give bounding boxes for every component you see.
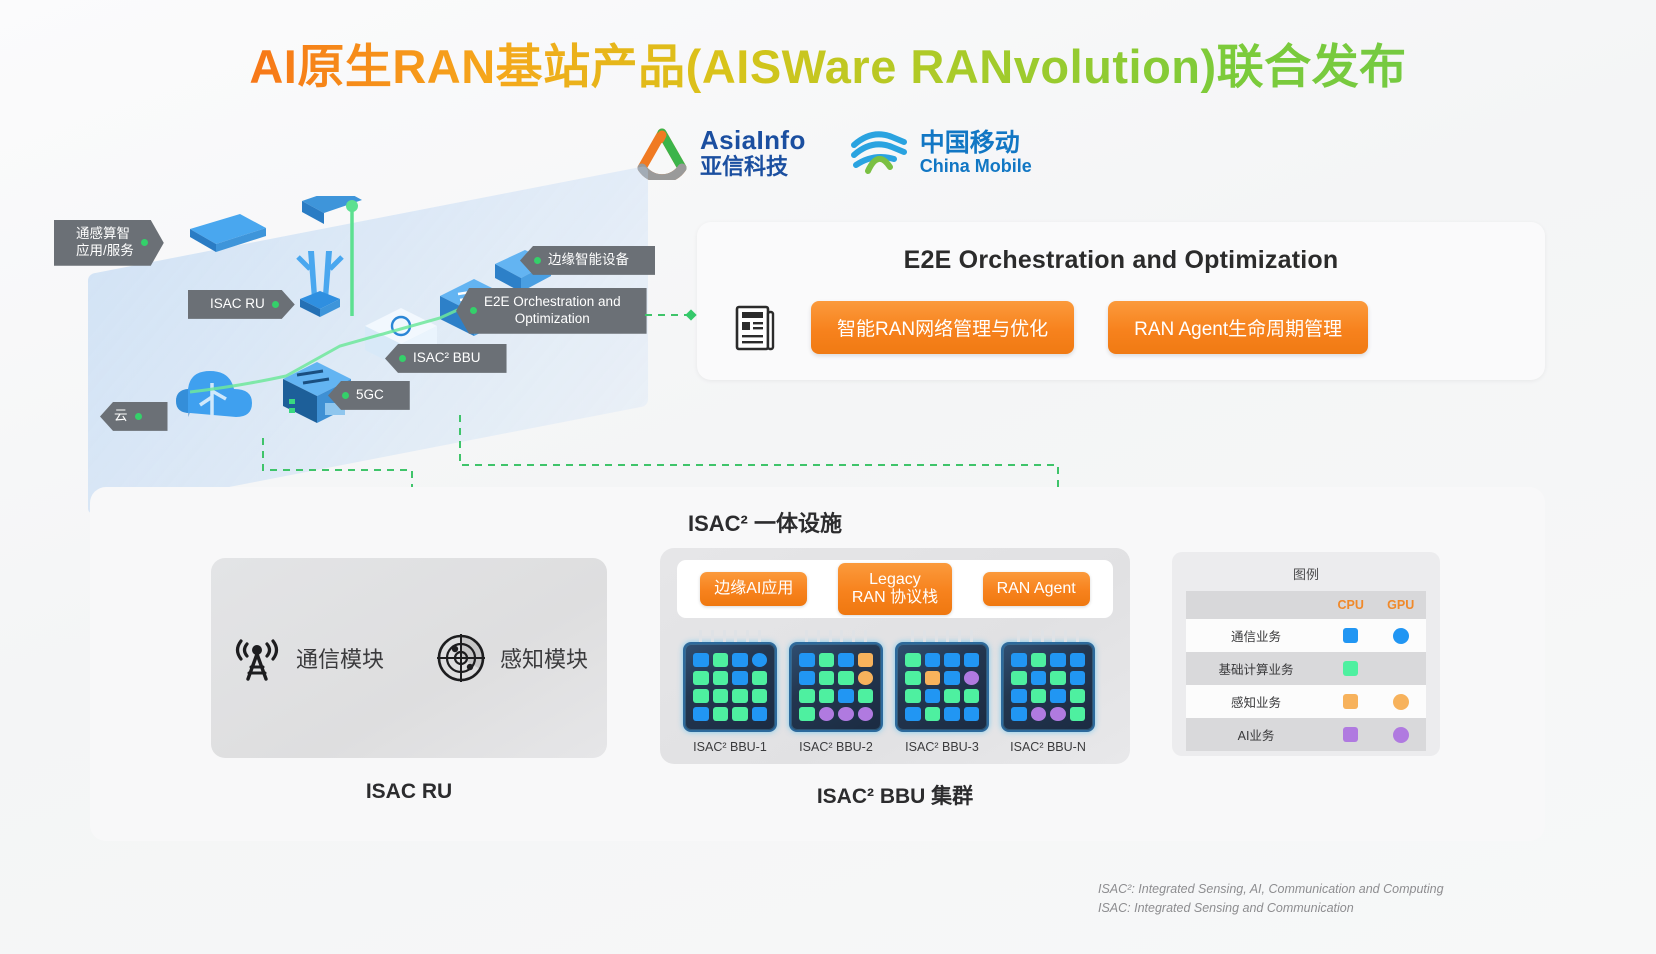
legend-row-label: 通信业务 bbox=[1186, 619, 1326, 652]
legend-row-label: 基础计算业务 bbox=[1186, 652, 1326, 685]
document-icon bbox=[733, 304, 777, 352]
slide-root: AI原生RAN基站产品(AISWare RANvolution)联合发布 Asi… bbox=[0, 0, 1656, 954]
legend-row: 基础计算业务 bbox=[1186, 652, 1426, 685]
chip-cell-green bbox=[693, 671, 709, 685]
china-mobile-name-cn: 中国移动 bbox=[920, 130, 1032, 156]
iso-tag-e2e[interactable]: E2E Orchestration and Optimization bbox=[456, 288, 647, 334]
status-dot-icon bbox=[135, 413, 142, 420]
chip-cell-blue bbox=[838, 653, 854, 667]
chip-cell-blue bbox=[693, 707, 709, 721]
cpu-swatch-icon bbox=[1343, 628, 1358, 643]
gpu-swatch-icon bbox=[1393, 694, 1409, 710]
cloud-icon bbox=[176, 371, 252, 417]
chip-cell-green bbox=[1031, 689, 1047, 703]
iso-tag-cloud[interactable]: 云 bbox=[100, 402, 168, 431]
chip-cell-blue bbox=[925, 689, 941, 703]
chip-cell-blue bbox=[1031, 671, 1047, 685]
chip-cell-blue bbox=[1050, 653, 1066, 667]
legend-title: 图例 bbox=[1186, 564, 1426, 583]
status-dot-icon bbox=[342, 392, 349, 399]
communication-module: 通信模块 bbox=[230, 631, 384, 685]
chip-label: ISAC² BBU-2 bbox=[789, 740, 883, 754]
radar-icon bbox=[434, 631, 488, 685]
china-mobile-name-en: China Mobile bbox=[920, 156, 1032, 177]
chip-cell-blue bbox=[964, 653, 980, 667]
chip-cell-blue bbox=[964, 707, 980, 721]
chip-cell-blue bbox=[1070, 671, 1086, 685]
e2e-heading: E2E Orchestration and Optimization bbox=[697, 246, 1545, 275]
iso-tag-app-service[interactable]: 通感算智 应用/服务 bbox=[54, 220, 164, 266]
chip-cell-purple-circle bbox=[819, 707, 835, 721]
legend-cpu-swatch bbox=[1326, 718, 1375, 751]
chip-cell-green bbox=[713, 671, 729, 685]
chip-cell-purple-circle bbox=[858, 707, 874, 721]
chip-cell-blue bbox=[925, 653, 941, 667]
e2e-orchestration-panel: E2E Orchestration and Optimization 智能RAN… bbox=[697, 222, 1545, 380]
legend-gpu-swatch bbox=[1375, 652, 1426, 685]
footnote-isac2: ISAC²: Integrated Sensing, AI, Communica… bbox=[1098, 880, 1444, 899]
status-dot-icon bbox=[534, 257, 541, 264]
chip-cell-blue bbox=[1011, 653, 1027, 667]
chip-cell-green bbox=[905, 671, 921, 685]
bbu-chip-4[interactable]: ISAC² BBU-N bbox=[1001, 630, 1095, 754]
chip-cell-blue bbox=[752, 707, 768, 721]
chip-cell-green bbox=[819, 671, 835, 685]
china-mobile-logo: 中国移动 China Mobile bbox=[848, 127, 1032, 179]
chip-cell-green bbox=[799, 689, 815, 703]
legend-cpu-swatch bbox=[1326, 652, 1375, 685]
chip-grid bbox=[895, 642, 989, 732]
chip-cell-green bbox=[1031, 653, 1047, 667]
status-dot-icon bbox=[470, 307, 477, 314]
iso-tag-cloud-label: 云 bbox=[114, 408, 128, 425]
asiainfo-name-en: AsiaInfo bbox=[700, 127, 806, 154]
chip-cell-green bbox=[819, 689, 835, 703]
chip-pins-icon bbox=[789, 630, 883, 642]
iso-tag-edge-device-label: 边缘智能设备 bbox=[548, 252, 629, 269]
communication-module-label: 通信模块 bbox=[296, 642, 384, 674]
legend-col-gpu: GPU bbox=[1375, 591, 1426, 619]
chip-cell-green bbox=[858, 689, 874, 703]
chip-cell-purple-circle bbox=[838, 707, 854, 721]
iso-tag-e2e-label: E2E Orchestration and Optimization bbox=[484, 294, 621, 328]
gpu-swatch-icon bbox=[1393, 628, 1409, 644]
bbu-chip-3[interactable]: ISAC² BBU-3 bbox=[895, 630, 989, 754]
legend-cpu-swatch bbox=[1326, 619, 1375, 652]
antenna-icon bbox=[230, 631, 284, 685]
chip-label: ISAC² BBU-1 bbox=[683, 740, 777, 754]
chip-cell-green bbox=[752, 689, 768, 703]
chip-pins-icon bbox=[1001, 630, 1095, 642]
asiainfo-logo: AsiaInfo 亚信科技 bbox=[634, 126, 806, 180]
chip-cell-blue bbox=[799, 671, 815, 685]
stack-pill-legacy-ran[interactable]: Legacy RAN 协议栈 bbox=[838, 563, 952, 615]
isometric-network-diagram: 通感算智 应用/服务 ISAC RU 云 5GC ISAC² BBU E2E O… bbox=[40, 196, 680, 486]
page-title: AI原生RAN基站产品(AISWare RANvolution)联合发布 bbox=[0, 28, 1656, 97]
chip-cell-orange bbox=[925, 671, 941, 685]
legend-row-label: 感知业务 bbox=[1186, 685, 1326, 718]
iso-tag-isac2-bbu-label: ISAC² BBU bbox=[413, 350, 481, 367]
iso-tag-isac-ru-label: ISAC RU bbox=[210, 296, 265, 313]
chip-grid bbox=[789, 642, 883, 732]
chip-cell-green bbox=[964, 689, 980, 703]
legend-cpu-swatch bbox=[1326, 685, 1375, 718]
legend-gpu-swatch bbox=[1375, 718, 1426, 751]
chip-pins-icon bbox=[683, 630, 777, 642]
stack-pill-edge-ai[interactable]: 边缘AI应用 bbox=[700, 572, 807, 606]
chip-cell-blue bbox=[1011, 707, 1027, 721]
bbu-chip-1[interactable]: ISAC² BBU-1 bbox=[683, 630, 777, 754]
footnotes: ISAC²: Integrated Sensing, AI, Communica… bbox=[1098, 880, 1444, 918]
chip-cell-blue bbox=[732, 653, 748, 667]
chip-cell-green bbox=[732, 689, 748, 703]
chip-cell-blue bbox=[732, 671, 748, 685]
chip-cell-green bbox=[925, 707, 941, 721]
gpu-swatch-icon bbox=[1393, 727, 1409, 743]
china-mobile-mark-icon bbox=[848, 127, 910, 179]
legend-gpu-swatch bbox=[1375, 685, 1426, 718]
iso-tag-5gc-label: 5GC bbox=[356, 387, 384, 404]
chip-cell-blue bbox=[693, 653, 709, 667]
bbu-chip-row: ISAC² BBU-1ISAC² BBU-2ISAC² BBU-3ISAC² B… bbox=[683, 630, 1119, 754]
chip-cell-blue bbox=[838, 689, 854, 703]
chip-cell-green bbox=[905, 689, 921, 703]
legend-header-row: CPU GPU bbox=[1186, 591, 1426, 619]
iso-tag-edge-device[interactable]: 边缘智能设备 bbox=[520, 246, 655, 275]
isac-ru-card: 通信模块 感知模块 bbox=[211, 558, 607, 758]
legend-col-cpu: CPU bbox=[1326, 591, 1375, 619]
legend-col-blank bbox=[1186, 591, 1326, 619]
isac-ru-title: ISAC RU bbox=[211, 780, 607, 804]
chip-grid bbox=[1001, 642, 1095, 732]
cpu-swatch-icon bbox=[1343, 727, 1358, 742]
chip-cell-blue bbox=[1070, 653, 1086, 667]
legend-gpu-swatch bbox=[1375, 619, 1426, 652]
legend-table: CPU GPU 通信业务基础计算业务感知业务AI业务 bbox=[1186, 591, 1426, 751]
legend-panel: 图例 CPU GPU 通信业务基础计算业务感知业务AI业务 bbox=[1172, 552, 1440, 756]
chip-pins-icon bbox=[895, 630, 989, 642]
chip-cell-green bbox=[713, 689, 729, 703]
status-dot-icon bbox=[272, 301, 279, 308]
chip-cell-green bbox=[1050, 671, 1066, 685]
iso-tag-isac2-bbu[interactable]: ISAC² BBU bbox=[385, 344, 507, 373]
e2e-button-ran-management[interactable]: 智能RAN网络管理与优化 bbox=[811, 301, 1074, 354]
iso-tag-5gc[interactable]: 5GC bbox=[328, 381, 410, 410]
chip-cell-purple-circle bbox=[1050, 707, 1066, 721]
logo-row: AsiaInfo 亚信科技 中国移动 China Mobile bbox=[634, 126, 1032, 180]
chip-cell-green bbox=[799, 707, 815, 721]
chip-cell-green bbox=[752, 671, 768, 685]
bbu-section-heading: ISAC² 一体设施 bbox=[688, 506, 842, 538]
bbu-chip-2[interactable]: ISAC² BBU-2 bbox=[789, 630, 883, 754]
chip-cell-green bbox=[944, 689, 960, 703]
legend-row: 通信业务 bbox=[1186, 619, 1426, 652]
tower-icon bbox=[298, 251, 342, 317]
asiainfo-name-cn: 亚信科技 bbox=[700, 154, 806, 179]
status-dot-icon bbox=[399, 355, 406, 362]
bbu-cluster-title: ISAC² BBU 集群 bbox=[660, 780, 1130, 810]
chip-cell-blue-circle bbox=[752, 653, 768, 667]
footnote-isac: ISAC: Integrated Sensing and Communicati… bbox=[1098, 899, 1444, 918]
cpu-swatch-icon bbox=[1343, 694, 1358, 709]
chip-cell-blue bbox=[944, 653, 960, 667]
chip-cell-green bbox=[732, 707, 748, 721]
chip-cell-blue bbox=[1011, 689, 1027, 703]
chip-cell-green bbox=[1011, 671, 1027, 685]
legend-row-label: AI业务 bbox=[1186, 718, 1326, 751]
chip-cell-green bbox=[713, 707, 729, 721]
chip-cell-green bbox=[819, 653, 835, 667]
chip-cell-blue bbox=[799, 653, 815, 667]
chip-cell-blue bbox=[1050, 689, 1066, 703]
e2e-button-ran-agent-lifecycle[interactable]: RAN Agent生命周期管理 bbox=[1108, 301, 1368, 354]
chip-cell-green bbox=[905, 653, 921, 667]
chip-grid bbox=[683, 642, 777, 732]
chip-label: ISAC² BBU-3 bbox=[895, 740, 989, 754]
chip-cell-green bbox=[838, 671, 854, 685]
chip-cell-purple-circle bbox=[964, 671, 980, 685]
chip-cell-green bbox=[1070, 689, 1086, 703]
iso-tag-isac-ru[interactable]: ISAC RU bbox=[188, 290, 295, 319]
chip-cell-green bbox=[1070, 707, 1086, 721]
legend-row: 感知业务 bbox=[1186, 685, 1426, 718]
legend-row: AI业务 bbox=[1186, 718, 1426, 751]
chip-cell-green bbox=[693, 689, 709, 703]
chip-label: ISAC² BBU-N bbox=[1001, 740, 1095, 754]
cpu-swatch-icon bbox=[1343, 661, 1358, 676]
sensing-module: 感知模块 bbox=[434, 631, 588, 685]
iso-tag-app-service-label: 通感算智 应用/服务 bbox=[76, 226, 134, 260]
chip-cell-orange-circle bbox=[858, 671, 874, 685]
chip-cell-blue bbox=[944, 671, 960, 685]
tablet-icon bbox=[190, 214, 266, 252]
bbu-stack-bar: 边缘AI应用 Legacy RAN 协议栈 RAN Agent bbox=[677, 560, 1113, 618]
chip-cell-blue bbox=[944, 707, 960, 721]
chip-cell-blue bbox=[905, 707, 921, 721]
stack-pill-ran-agent[interactable]: RAN Agent bbox=[983, 572, 1090, 606]
status-dot-icon bbox=[141, 239, 148, 246]
chip-cell-orange bbox=[858, 653, 874, 667]
sensing-module-label: 感知模块 bbox=[500, 642, 588, 674]
chip-cell-green bbox=[713, 653, 729, 667]
chip-cell-purple-circle bbox=[1031, 707, 1047, 721]
